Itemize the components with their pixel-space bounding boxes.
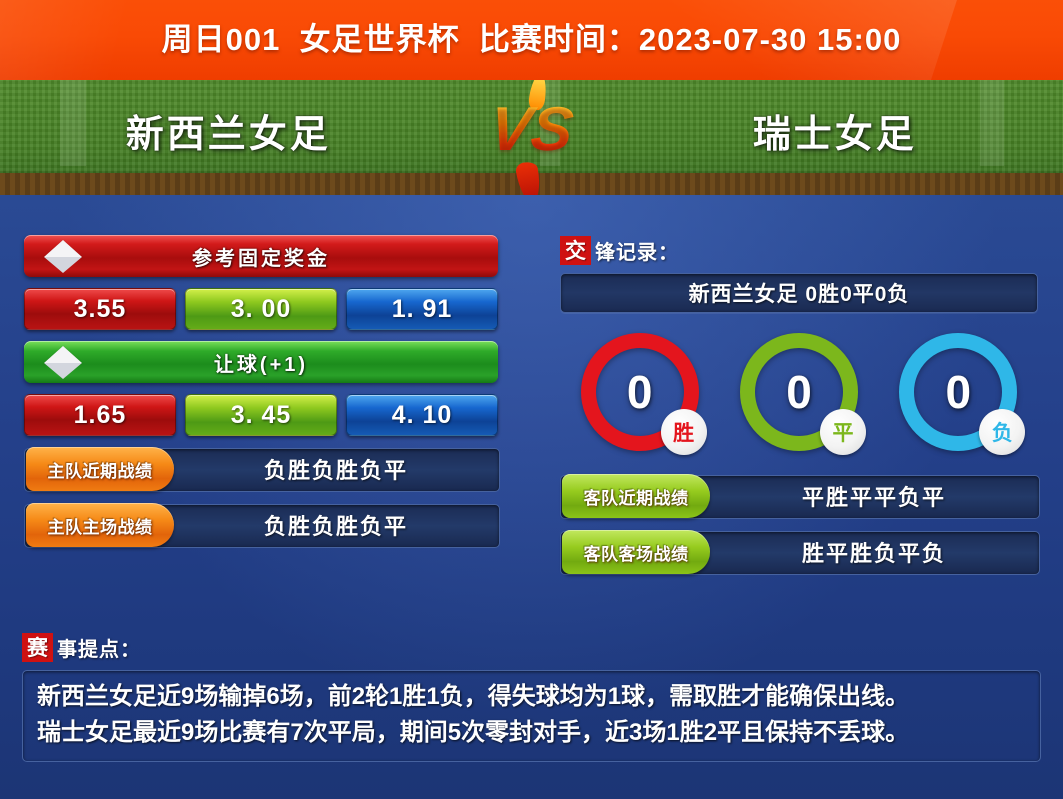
- handicap-title-value: +1: [270, 354, 299, 376]
- diamond-icon: [44, 343, 82, 381]
- away-recent-form-row: 客队近期战绩 平胜平平负平: [560, 475, 1038, 519]
- h2h-summary: 新西兰女足 0胜0平0负: [560, 273, 1038, 313]
- tips-box: 新西兰女足近9场输掉6场，前2轮1胜1负，得失球均为1球，需取胜才能确保出线。 …: [22, 670, 1041, 762]
- handicap-odds-draw[interactable]: 3. 45: [185, 394, 337, 436]
- ring-label-badge: 平: [820, 409, 866, 455]
- home-home-form-value: 负胜负胜负平: [174, 504, 498, 546]
- handicap-title: 让球(+1): [214, 348, 308, 377]
- home-home-form-row: 主队主场战绩 负胜负胜负平: [24, 504, 498, 548]
- h2h-column: 交 锋记录： 新西兰女足 0胜0平0负 0 胜 0 平: [560, 235, 1038, 575]
- ring-label-badge: 胜: [661, 409, 707, 455]
- away-away-form-label: 客队客场战绩: [562, 530, 710, 574]
- fixed-odds-row: 3.55 3. 00 1. 91: [24, 288, 498, 330]
- ring-value: 0: [627, 369, 653, 415]
- handicap-odds-win[interactable]: 1.65: [24, 394, 176, 436]
- odds-column: 参考固定奖金 3.55 3. 00 1. 91 让球(+1) 1.65 3. 4…: [24, 235, 498, 548]
- h2h-section-title: 交 锋记录：: [560, 235, 1038, 265]
- handicap-odds-lose[interactable]: 4. 10: [346, 394, 498, 436]
- h2h-title-rest: 锋记录：: [595, 236, 679, 265]
- ring-label-badge: 负: [979, 409, 1025, 455]
- ring-value: 0: [946, 369, 972, 415]
- handicap-title-prefix: 让球(: [214, 354, 270, 376]
- home-team-name: 新西兰女足: [0, 103, 457, 158]
- away-recent-form-label: 客队近期战绩: [562, 474, 710, 518]
- away-away-form-row: 客队客场战绩 胜平胜负平负: [560, 531, 1038, 575]
- h2h-badge-char: 交: [560, 236, 591, 265]
- fixed-odds-draw[interactable]: 3. 00: [185, 288, 337, 330]
- h2h-ring-win: 0 胜: [581, 333, 699, 451]
- home-recent-form-value: 负胜负胜负平: [174, 448, 498, 490]
- match-preview-screen: 周日001 女足世界杯 比赛时间：2023-07-30 15:00 新西兰女足 …: [0, 0, 1063, 799]
- handicap-title-suffix: ): [298, 354, 308, 376]
- away-away-form-value: 胜平胜负平负: [710, 531, 1038, 573]
- home-recent-form-label: 主队近期战绩: [26, 447, 174, 491]
- h2h-rings: 0 胜 0 平 0 负: [560, 333, 1038, 463]
- away-team-name: 瑞士女足: [607, 103, 1063, 158]
- away-recent-form-value: 平胜平平负平: [710, 475, 1038, 517]
- vs-label: VS: [487, 99, 576, 161]
- match-header-bar: 周日001 女足世界杯 比赛时间：2023-07-30 15:00: [0, 0, 1063, 80]
- ring-value: 0: [786, 369, 812, 415]
- vs-emblem: VS: [457, 80, 607, 180]
- home-home-form-label: 主队主场战绩: [26, 503, 174, 547]
- pitch-banner: 新西兰女足 VS 瑞士女足: [0, 80, 1063, 195]
- h2h-ring-draw: 0 平: [740, 333, 858, 451]
- fixed-odds-title: 参考固定奖金: [192, 242, 330, 271]
- tips-line: 新西兰女足近9场输掉6场，前2轮1胜1负，得失球均为1球，需取胜才能确保出线。: [37, 679, 1026, 715]
- tips-section-title: 赛 事提点：: [22, 632, 1041, 662]
- tips-title-rest: 事提点：: [57, 633, 141, 662]
- tips-badge-char: 赛: [22, 633, 53, 662]
- tips-section: 赛 事提点： 新西兰女足近9场输掉6场，前2轮1胜1负，得失球均为1球，需取胜才…: [22, 632, 1041, 762]
- match-header-title: 周日001 女足世界杯 比赛时间：2023-07-30 15:00: [0, 0, 1063, 80]
- teams-row: 新西兰女足 VS 瑞士女足: [0, 80, 1063, 180]
- home-recent-form-row: 主队近期战绩 负胜负胜负平: [24, 448, 498, 492]
- fixed-odds-lose[interactable]: 1. 91: [346, 288, 498, 330]
- handicap-title-bar: 让球(+1): [24, 341, 498, 383]
- main-panel: 参考固定奖金 3.55 3. 00 1. 91 让球(+1) 1.65 3. 4…: [0, 195, 1063, 799]
- handicap-odds-row: 1.65 3. 45 4. 10: [24, 394, 498, 436]
- h2h-ring-lose: 0 负: [899, 333, 1017, 451]
- fixed-odds-win[interactable]: 3.55: [24, 288, 176, 330]
- fixed-odds-title-bar: 参考固定奖金: [24, 235, 498, 277]
- diamond-icon: [44, 237, 82, 275]
- tips-line: 瑞士女足最近9场比赛有7次平局，期间5次零封对手，近3场1胜2平且保持不丢球。: [37, 715, 1026, 751]
